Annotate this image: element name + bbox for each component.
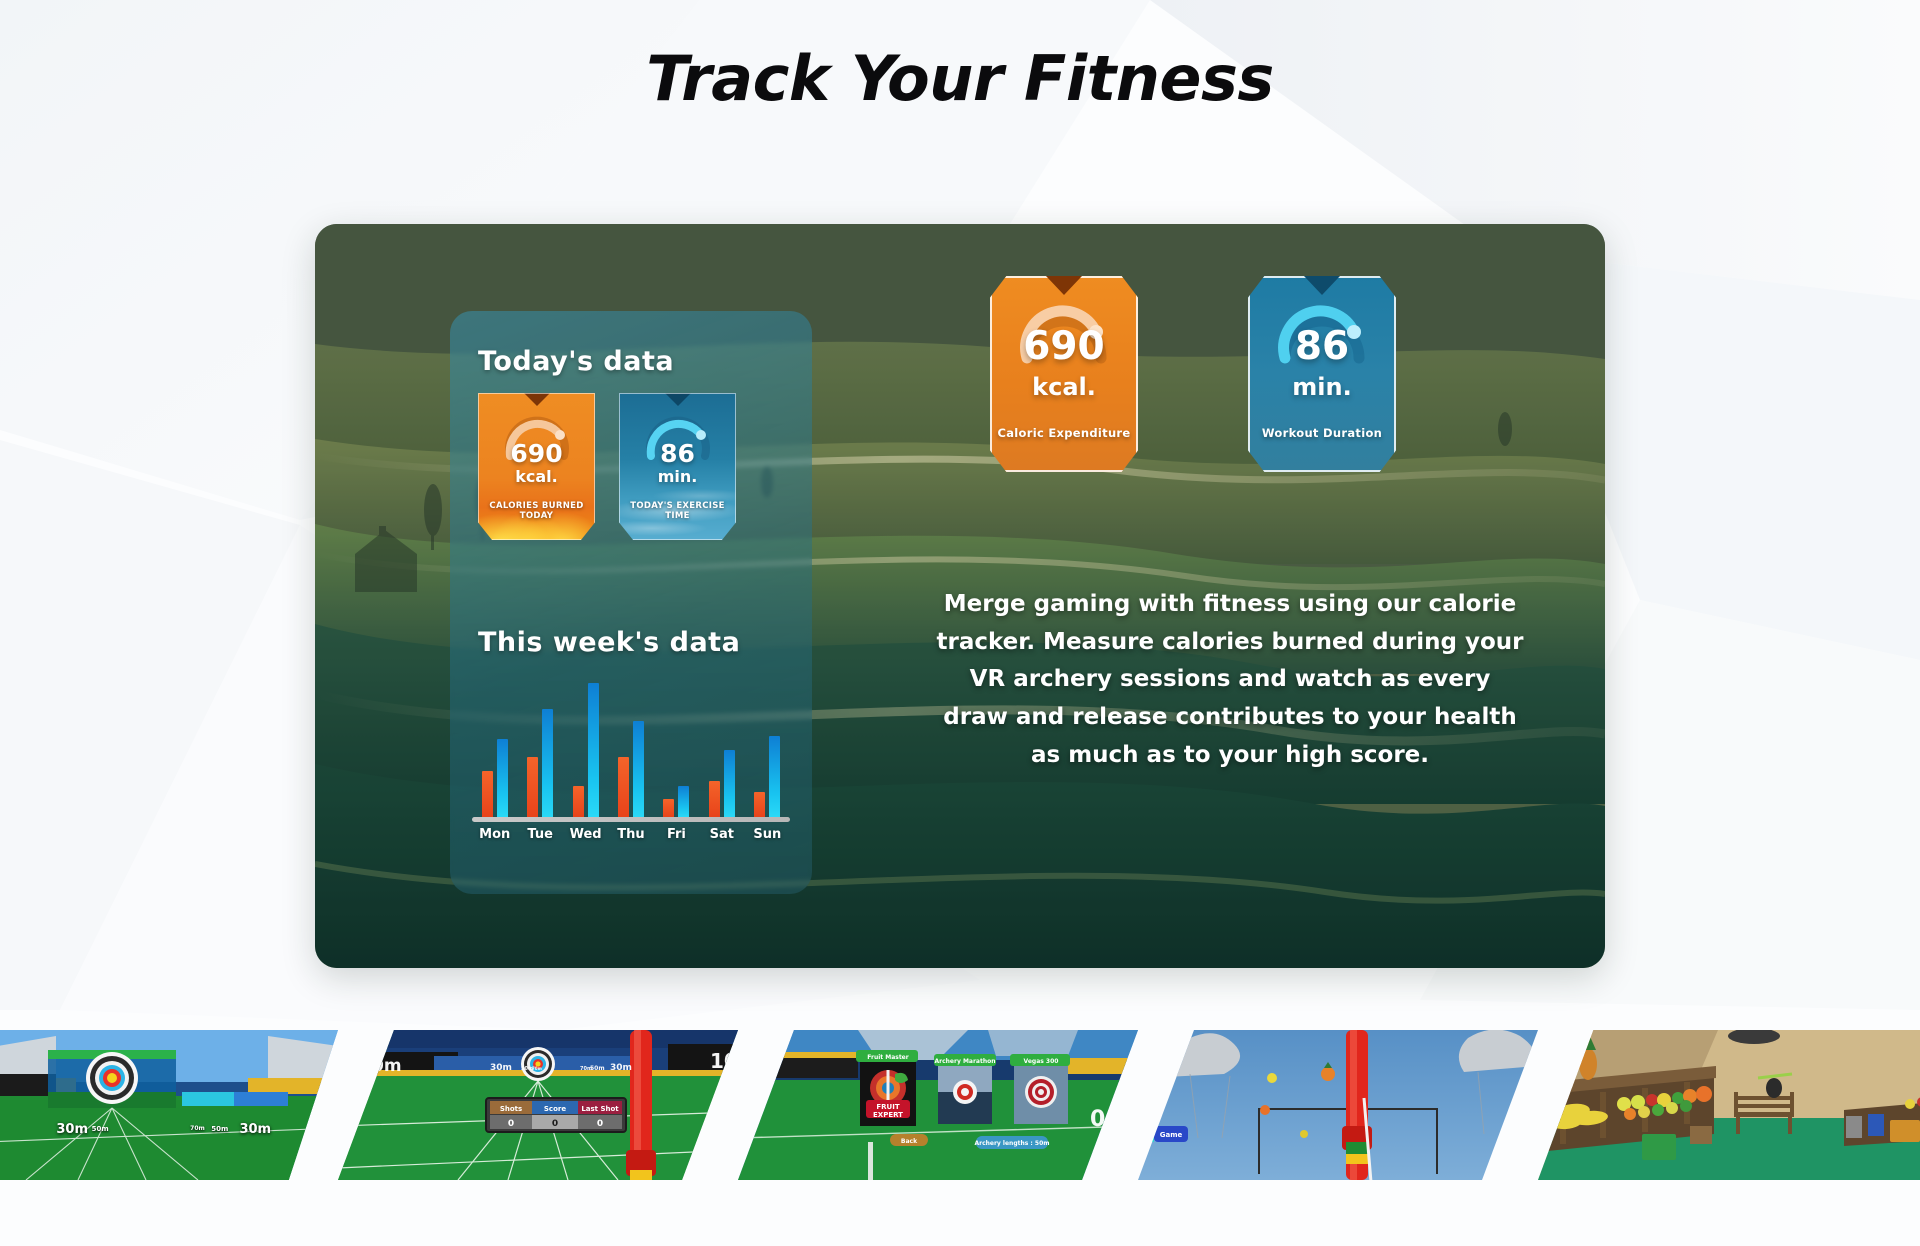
svg-text:Back: Back [901, 1138, 918, 1145]
mini-card-exercise-time[interactable]: 86 min. TODAY'S EXERCISE TIME [619, 393, 736, 540]
exercise-unit: min. [619, 467, 736, 486]
svg-text:Fruit Master: Fruit Master [867, 1054, 908, 1061]
chart-axis-line [472, 817, 790, 822]
svg-text:Last Shot: Last Shot [581, 1105, 619, 1113]
calories-unit: kcal. [478, 467, 595, 486]
svg-text:30m: 30m [490, 1063, 512, 1073]
stat-card-caloric-expenditure[interactable]: 690 kcal. Caloric Expenditure [990, 276, 1138, 472]
bar-fri-calories [663, 799, 674, 817]
svg-text:10: 10 [710, 1049, 738, 1073]
svg-text:30m: 30m [610, 1063, 632, 1073]
svg-text:0m: 0m [1090, 1107, 1128, 1132]
svg-text:0: 0 [552, 1119, 558, 1129]
exercise-card-notch [665, 393, 691, 406]
caloric-value: 690 [990, 324, 1138, 369]
svg-text:EXPERT: EXPERT [873, 1111, 903, 1119]
bar-wed-minutes [588, 683, 599, 817]
stat-card-workout-duration[interactable]: 86 min. Workout Duration [1248, 276, 1396, 472]
exercise-value: 86 [619, 439, 736, 468]
bar-mon-minutes [497, 739, 508, 817]
x-tick-tue: Tue [527, 827, 553, 842]
thumbnail-fruit-market-room[interactable] [1538, 1030, 1920, 1180]
todays-data-panel: Today's data 690 kcal. CALORIE [450, 311, 812, 894]
page-title: Track Your Fitness [0, 42, 1920, 115]
calories-value: 690 [478, 439, 595, 468]
bar-sun-calories [754, 792, 765, 817]
chart-plot-area [472, 677, 790, 817]
mini-card-calories[interactable]: 690 kcal. CALORIES BURNED TODAY [478, 393, 595, 540]
bar-sun-minutes [769, 736, 780, 817]
thumbnail-game-mode-select[interactable]: Fruit Master FRUIT EXPERT Archery Marath… [738, 1030, 1138, 1180]
svg-text:50m: 50m [590, 1065, 605, 1072]
x-tick-sun: Sun [753, 827, 781, 842]
fitness-hero-card: Today's data 690 kcal. CALORIE [315, 224, 1605, 968]
weekly-bar-chart: MonTueWedThuFriSatSun [472, 677, 790, 852]
thumbnail-archery-range-target[interactable]: 30m 50m 70m 50m 30m [0, 1030, 338, 1180]
workout-card-notch [1304, 276, 1340, 295]
bar-mon-calories [482, 771, 493, 817]
bar-group-tue [527, 709, 553, 817]
thumbnail-fruit-shooting-sky[interactable]: Game [1138, 1030, 1538, 1180]
thumbnail-archery-scoreboard[interactable]: Shots Score Last Shot 0 0 0 0m [338, 1030, 738, 1180]
svg-text:Archery Marathon: Archery Marathon [934, 1058, 995, 1065]
caloric-caption: Caloric Expenditure [990, 426, 1138, 440]
svg-text:FRUIT: FRUIT [876, 1103, 899, 1111]
svg-text:Archery lengths : 50m: Archery lengths : 50m [974, 1140, 1049, 1147]
thumb1-label-50m-right: 50m [211, 1125, 228, 1133]
svg-text:0: 0 [597, 1119, 603, 1129]
bar-thu-calories [618, 757, 629, 817]
thumb1-label-70m-right: 70m [190, 1125, 205, 1132]
x-tick-mon: Mon [479, 827, 510, 842]
bar-wed-calories [573, 786, 584, 817]
bar-tue-minutes [542, 709, 553, 817]
description-text: Merge gaming with fitness using our calo… [935, 586, 1525, 775]
svg-text:70m: 70m [532, 1066, 542, 1071]
svg-text:Vegas 300: Vegas 300 [1024, 1058, 1059, 1065]
svg-text:Shots: Shots [500, 1105, 522, 1113]
svg-text:0: 0 [508, 1119, 514, 1129]
bar-fri-minutes [678, 786, 689, 817]
bar-tue-calories [527, 757, 538, 817]
thumb1-label-30m-left: 30m [56, 1122, 88, 1137]
bar-group-sun [754, 736, 780, 817]
x-tick-thu: Thu [617, 827, 644, 842]
bar-sat-minutes [724, 750, 735, 817]
bar-group-fri [663, 786, 689, 817]
calories-card-notch [524, 393, 550, 406]
mini-stat-cards: 690 kcal. CALORIES BURNED TODAY [478, 393, 736, 540]
x-tick-wed: Wed [570, 827, 602, 842]
svg-text:0m: 0m [372, 1056, 402, 1076]
workout-unit: min. [1248, 373, 1396, 401]
x-tick-fri: Fri [667, 827, 686, 842]
thumb1-label-30m-right: 30m [239, 1122, 271, 1137]
x-tick-sat: Sat [710, 827, 734, 842]
caloric-card-notch [1046, 276, 1082, 295]
primary-stat-cards: 690 kcal. Caloric Expenditure 86 min. W [990, 276, 1396, 472]
bar-group-wed [573, 683, 599, 817]
bar-group-mon [482, 739, 508, 817]
page-root: Track Your Fitness [0, 0, 1920, 1246]
svg-text:Score: Score [544, 1105, 566, 1113]
bar-thu-minutes [633, 721, 644, 817]
workout-value: 86 [1248, 324, 1396, 369]
this-weeks-data-heading: This week's data [478, 627, 740, 658]
exercise-caption: TODAY'S EXERCISE TIME [619, 501, 736, 521]
bar-group-sat [709, 750, 735, 817]
svg-text:Game: Game [1160, 1131, 1183, 1139]
workout-caption: Workout Duration [1248, 426, 1396, 440]
thumb1-label-50m-left: 50m [92, 1125, 109, 1133]
bar-group-thu [618, 721, 644, 817]
chart-x-tick-labels: MonTueWedThuFriSatSun [472, 827, 790, 849]
screenshot-thumbnail-strip: 30m 50m 70m 50m 30m [0, 1030, 1920, 1246]
bar-sat-calories [709, 781, 720, 817]
todays-data-heading: Today's data [478, 346, 674, 377]
calories-caption: CALORIES BURNED TODAY [478, 501, 595, 521]
caloric-unit: kcal. [990, 373, 1138, 401]
